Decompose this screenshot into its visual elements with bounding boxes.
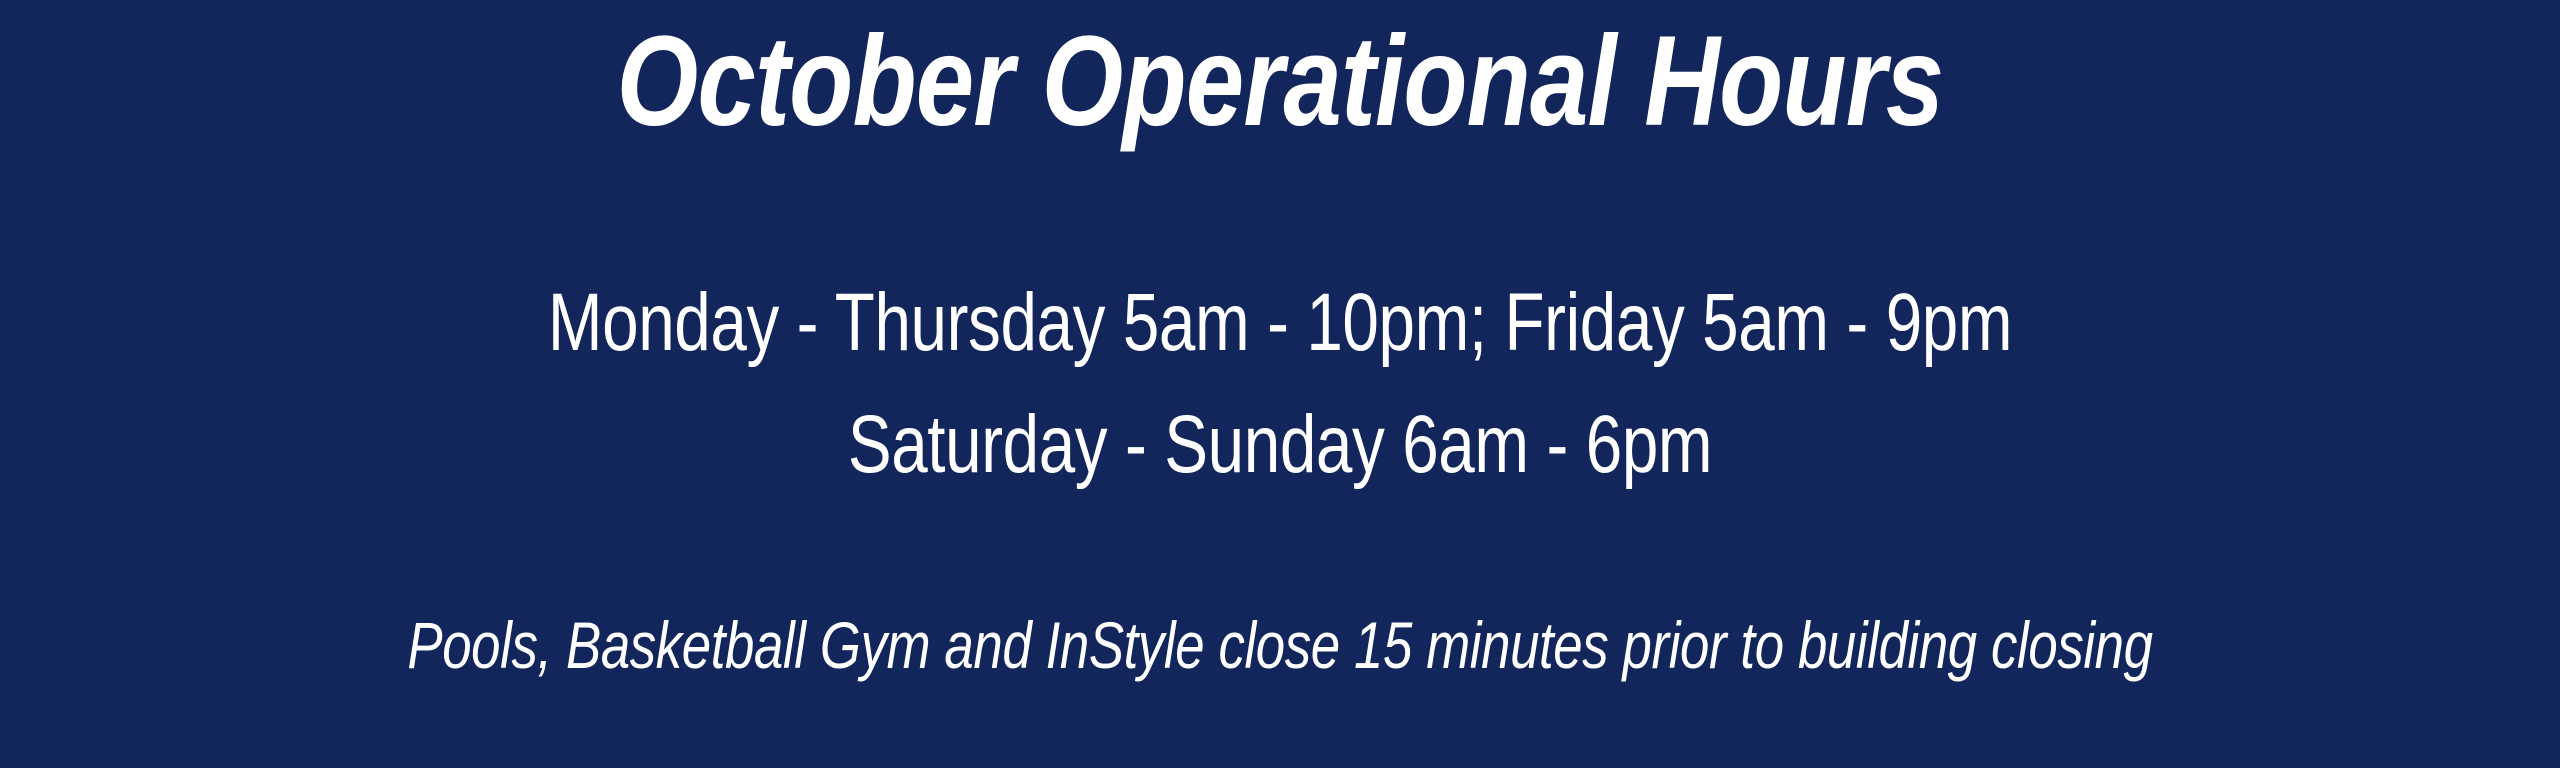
operational-hours-banner: October Operational Hours Monday - Thurs…: [0, 0, 2560, 768]
page-title: October Operational Hours: [230, 18, 2329, 146]
hours-line-weekend: Saturday - Sunday 6am - 6pm: [256, 404, 2304, 486]
closing-notice: Pools, Basketball Gym and InStyle close …: [256, 612, 2304, 678]
hours-line-weekday: Monday - Thursday 5am - 10pm; Friday 5am…: [256, 282, 2304, 364]
